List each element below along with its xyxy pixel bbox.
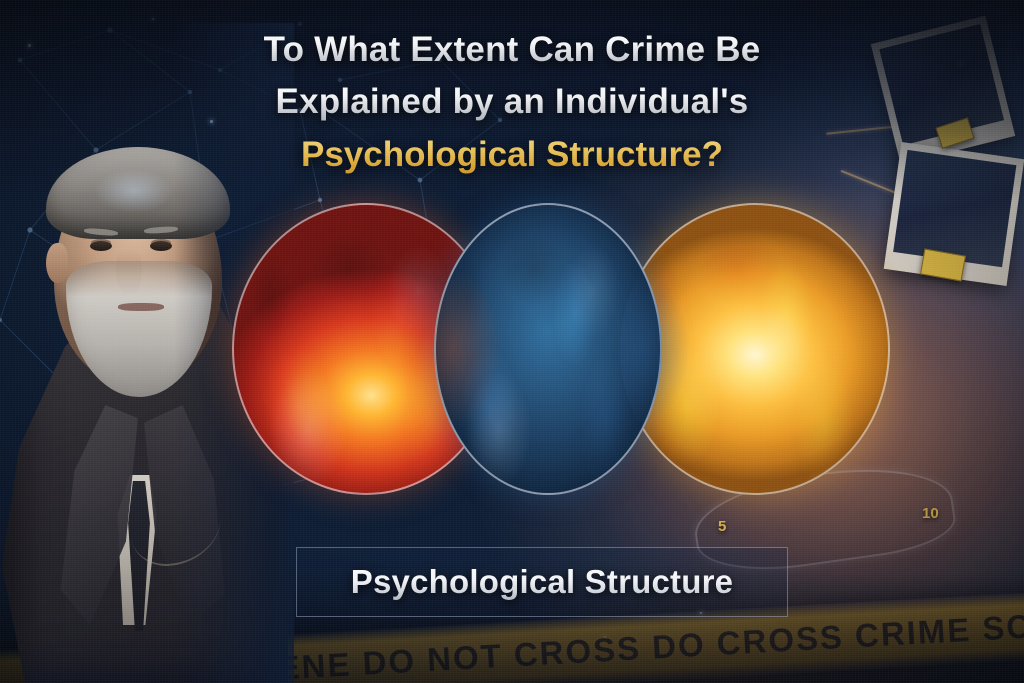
poster-canvas: 5 10 CRIME SCENE DO NOT CROSS DO CROSS C… xyxy=(0,0,1024,683)
page-title: To What Extent Can Crime Be Explained by… xyxy=(0,24,1024,182)
bottom-banner-text: Psychological Structure xyxy=(351,563,733,601)
bottom-banner: Psychological Structure xyxy=(296,547,788,617)
title-line-2: Explained by an Individual's xyxy=(0,76,1024,128)
smoke-texture xyxy=(436,205,660,493)
title-line-3-highlight: Psychological Structure? xyxy=(0,128,1024,182)
venn-circle-ego[interactable] xyxy=(434,203,662,495)
title-line-1: To What Extent Can Crime Be xyxy=(0,24,1024,76)
